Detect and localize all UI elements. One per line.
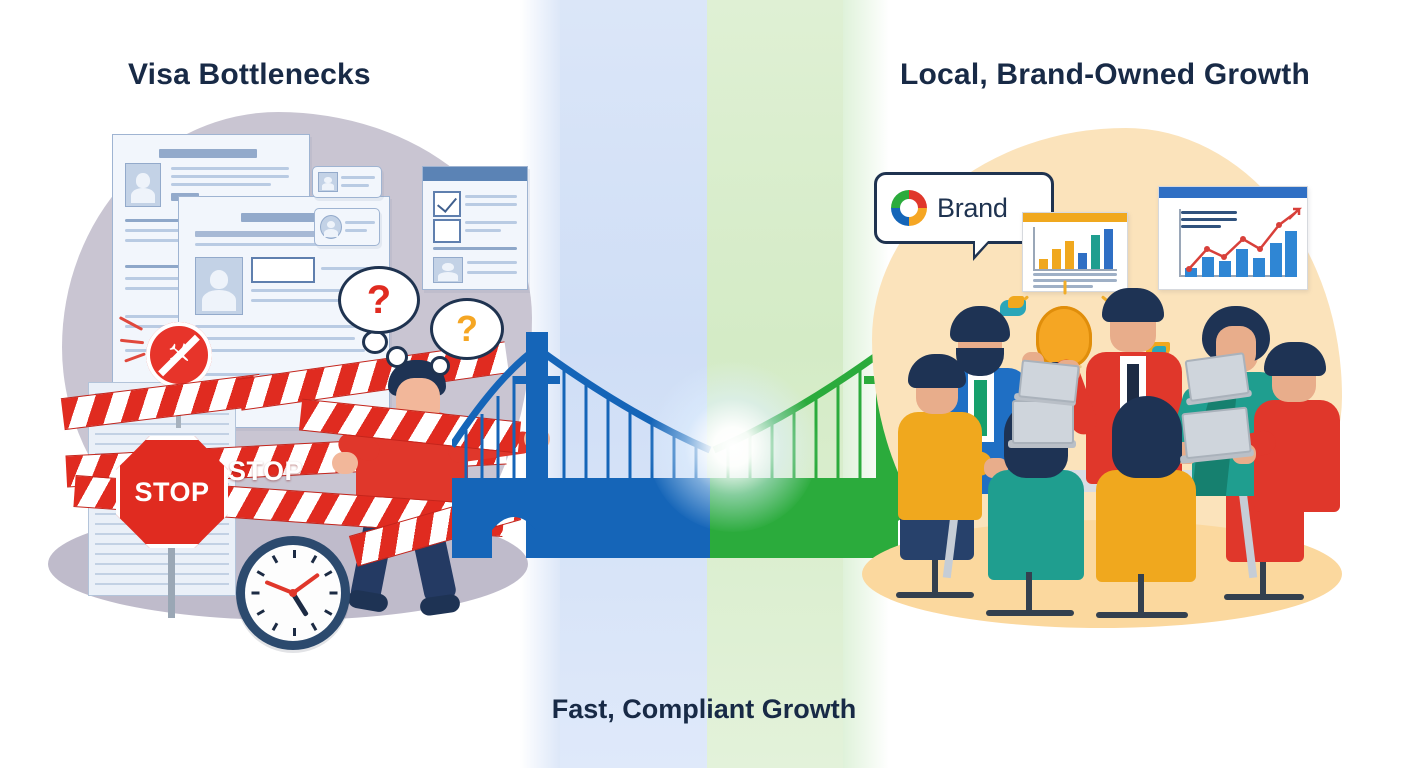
chart-bar	[1104, 229, 1113, 269]
chart-bar	[1065, 241, 1074, 269]
growth-trend-line	[1159, 187, 1307, 289]
question-bubble-red: ?	[338, 266, 420, 334]
person-hand	[332, 452, 358, 474]
chat-note-card	[312, 166, 382, 198]
bar-chart-card	[1022, 212, 1128, 292]
left-title: Visa Bottlenecks	[128, 58, 371, 92]
thought-dot	[430, 356, 450, 376]
brand-label: Brand	[937, 193, 1008, 224]
right-title: Local, Brand-Owned Growth	[900, 58, 1310, 92]
stop-sign-pole	[168, 540, 175, 618]
thought-dot	[386, 346, 408, 368]
bubble-tail-inner	[975, 240, 989, 255]
growth-chart-card	[1158, 186, 1308, 290]
bridge-center-glow	[648, 362, 818, 532]
brand-logo-icon	[891, 190, 927, 226]
info-note-card	[314, 208, 380, 246]
no-flight-icon: ✈	[146, 322, 212, 388]
checklist-form	[422, 166, 528, 290]
stop-tape-label: STOP	[228, 456, 303, 487]
clock-center-pin	[289, 589, 297, 597]
lightbulb-ray	[1064, 281, 1067, 295]
chart-bar	[1091, 235, 1100, 269]
wall-clock	[236, 536, 350, 650]
laptop	[1008, 440, 1076, 448]
chart-bar	[1078, 253, 1087, 269]
chart-bar	[1052, 249, 1061, 269]
bottom-caption: Fast, Compliant Growth	[0, 694, 1408, 725]
infographic-canvas: ✈ STOP STOP ?	[0, 0, 1408, 768]
chart-bar	[1039, 259, 1048, 269]
